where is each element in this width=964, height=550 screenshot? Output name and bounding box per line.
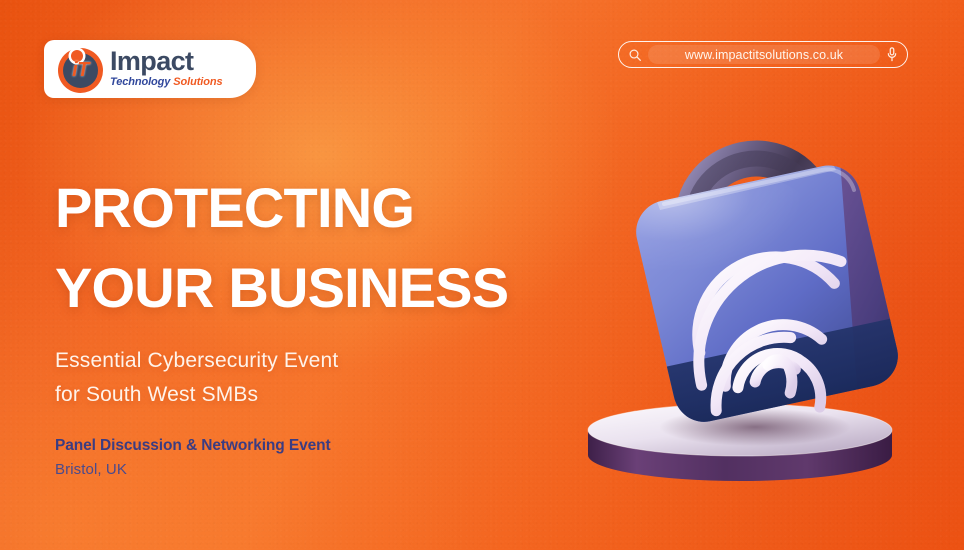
hero-banner: iT Impact Technology Solutions www.impac… <box>0 0 964 550</box>
logo-tagline-solutions: Solutions <box>173 76 222 88</box>
event-location-label: Bristol, UK <box>55 460 331 479</box>
fingerprint-padlock-illustration <box>540 100 940 500</box>
logo-badge-icon: iT <box>58 48 103 93</box>
hero-subtitle: Essential Cybersecurity Event for South … <box>55 344 575 412</box>
url-text: www.impactitsolutions.co.uk <box>685 48 843 62</box>
page-title-line-1: PROTECTING <box>55 168 575 248</box>
event-details: Panel Discussion & Networking Event Bris… <box>55 436 331 479</box>
microphone-icon[interactable] <box>886 47 898 62</box>
logo-initials: iT <box>63 60 98 80</box>
hero-copy: PROTECTING YOUR BUSINESS Essential Cyber… <box>55 168 575 412</box>
hero-subtitle-line-2: for South West SMBs <box>55 378 575 412</box>
logo-wordmark: Impact Technology Solutions <box>110 47 223 89</box>
logo-tagline-technology: Technology <box>110 76 170 88</box>
logo-brand-name: Impact <box>110 47 223 75</box>
search-icon[interactable] <box>628 48 642 62</box>
browser-url-bar[interactable]: www.impactitsolutions.co.uk <box>618 41 908 68</box>
logo-badge-inner-circle: iT <box>63 53 98 88</box>
page-title-line-2: YOUR BUSINESS <box>55 248 575 328</box>
url-input[interactable]: www.impactitsolutions.co.uk <box>648 45 880 64</box>
brand-logo[interactable]: iT Impact Technology Solutions <box>44 40 256 98</box>
event-type-label: Panel Discussion & Networking Event <box>55 436 331 456</box>
logo-tagline: Technology Solutions <box>110 76 223 89</box>
hero-subtitle-line-1: Essential Cybersecurity Event <box>55 344 575 378</box>
